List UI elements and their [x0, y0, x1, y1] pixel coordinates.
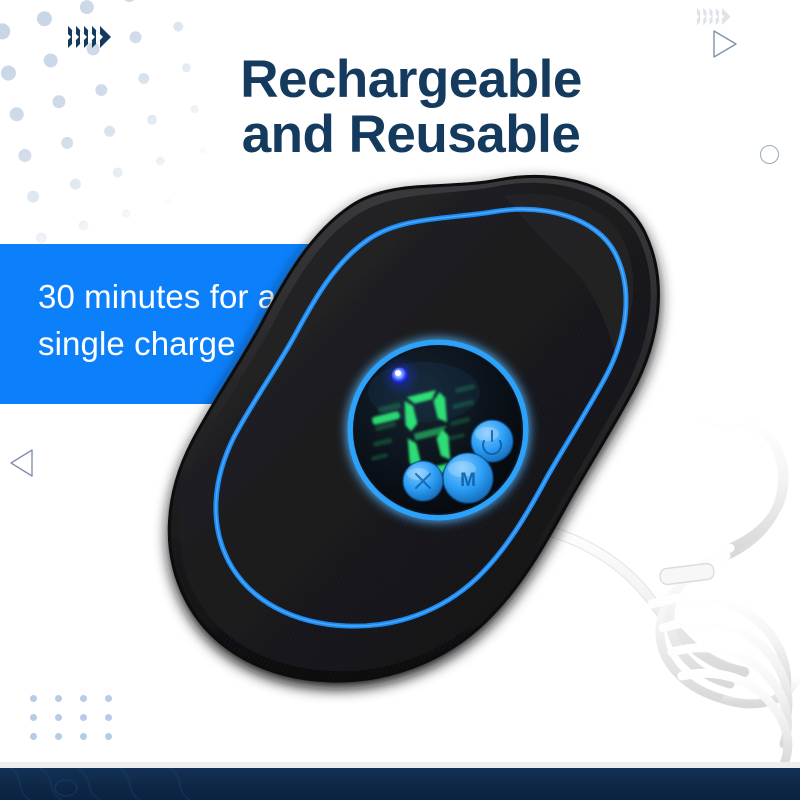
band-texture: [0, 768, 330, 800]
page-title: Rechargeable and Reusable: [0, 52, 800, 162]
chevron-right-icon: [722, 8, 731, 25]
dot-grid-decoration: [30, 695, 130, 752]
chevron-right-icon: [76, 26, 87, 48]
chevron-right-icon: [703, 8, 712, 25]
mode-button[interactable]: M: [443, 453, 493, 503]
chevron-right-icon: [709, 8, 718, 25]
promo-canvas: Rechargeable and Reusable 30 minutes for…: [0, 0, 800, 800]
intensity-button[interactable]: [403, 461, 443, 501]
usb-connector: [506, 505, 554, 535]
chevron-right-icon: [68, 26, 79, 48]
massager-body: [150, 160, 690, 700]
chevron-right-icon: [92, 26, 103, 48]
headline-line-2: and Reusable: [22, 107, 800, 162]
chevron-cluster-right-icon: [697, 8, 728, 25]
feature-banner-text: 30 minutes for a single charge: [38, 274, 438, 368]
triangle-left-outline-icon: [8, 448, 36, 478]
feature-banner: 30 minutes for a single charge: [0, 244, 472, 404]
headline-line-1: Rechargeable: [240, 50, 582, 109]
bottom-navy-band: [0, 768, 800, 800]
usb-charging-cable: [506, 416, 798, 764]
chevron-cluster-left-icon: [68, 26, 108, 48]
cable-tie: [659, 563, 715, 585]
svg-text:M: M: [460, 470, 476, 491]
chevron-right-icon: [697, 8, 706, 25]
chevron-right-icon: [100, 26, 111, 48]
banner-line-2: single charge: [38, 321, 438, 368]
chevron-right-icon: [84, 26, 95, 48]
banner-line-1: 30 minutes for a: [38, 274, 438, 321]
chevron-right-icon: [716, 8, 725, 25]
power-button[interactable]: [471, 420, 513, 462]
